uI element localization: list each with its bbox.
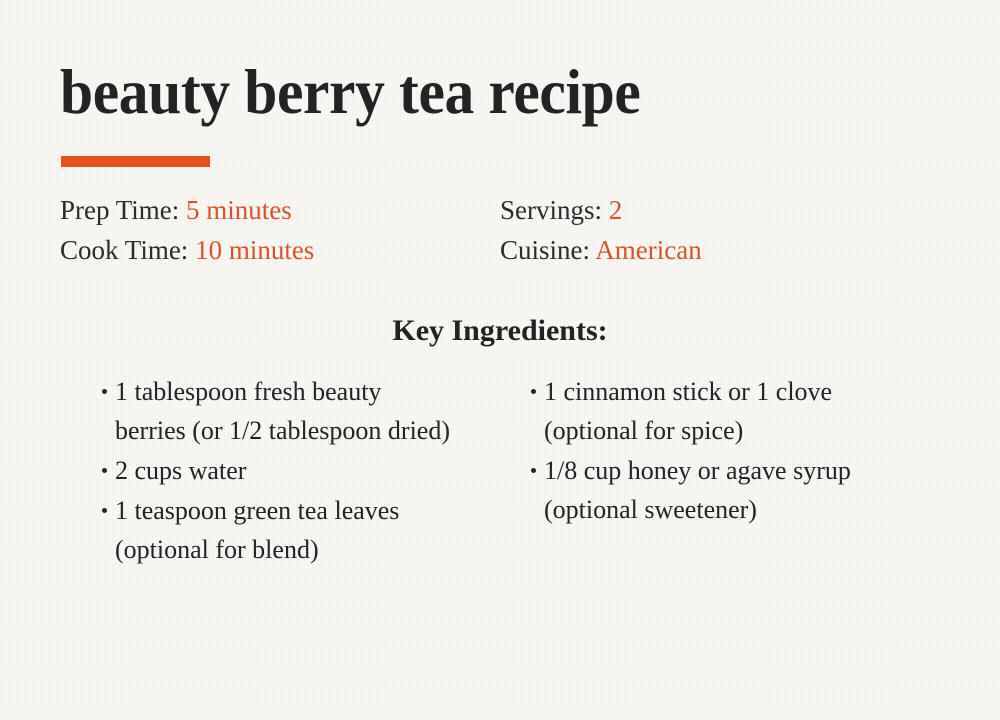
ingredient-text: 2 cups water	[115, 456, 246, 485]
ingredients-heading: Key Ingredients:	[0, 311, 1000, 351]
ingredients-list-right: 1 cinnamon stick or 1 clove (optional fo…	[529, 372, 929, 529]
meta-value-cuisine: American	[595, 235, 701, 265]
meta-value-cook-time: 10 minutes	[195, 235, 314, 265]
list-item: 2 cups water	[100, 451, 450, 490]
ingredients-column-left: 1 tablespoon fresh beauty berries (or 1/…	[100, 372, 450, 570]
meta-row-cook-time: Cook Time: 10 minutes	[60, 230, 314, 270]
meta-row-prep-time: Prep Time: 5 minutes	[60, 190, 314, 230]
ingredients-section: 1 tablespoon fresh beauty berries (or 1/…	[0, 372, 1000, 672]
list-item: 1 cinnamon stick or 1 clove (optional fo…	[529, 372, 929, 450]
meta-label-servings: Servings:	[500, 195, 602, 225]
bullet-icon	[102, 389, 107, 394]
bullet-icon	[531, 468, 536, 473]
bullet-icon	[531, 389, 536, 394]
meta-label-cook-time: Cook Time:	[60, 235, 188, 265]
page-title: beauty berry tea recipe	[60, 56, 878, 128]
ingredient-text: 1 cinnamon stick or 1 clove (optional fo…	[544, 377, 832, 445]
meta-value-prep-time: 5 minutes	[186, 195, 292, 225]
meta-label-cuisine: Cuisine:	[500, 235, 590, 265]
meta-column-left: Prep Time: 5 minutes Cook Time: 10 minut…	[60, 190, 314, 270]
ingredients-column-right: 1 cinnamon stick or 1 clove (optional fo…	[529, 372, 929, 530]
meta-column-right: Servings: 2 Cuisine: American	[500, 190, 702, 270]
list-item: 1 teaspoon green tea leaves (optional fo…	[100, 491, 450, 569]
recipe-card: beauty berry tea recipe Prep Time: 5 min…	[0, 0, 1000, 720]
meta-row-servings: Servings: 2	[500, 190, 702, 230]
bullet-icon	[102, 508, 107, 513]
accent-bar	[61, 156, 210, 167]
ingredient-text: 1 teaspoon green tea leaves (optional fo…	[115, 496, 399, 564]
meta-value-servings: 2	[609, 195, 623, 225]
ingredients-list-left: 1 tablespoon fresh beauty berries (or 1/…	[100, 372, 450, 569]
meta-row-cuisine: Cuisine: American	[500, 230, 702, 270]
ingredient-text: 1 tablespoon fresh beauty berries (or 1/…	[115, 377, 450, 445]
list-item: 1/8 cup honey or agave syrup (optional s…	[529, 451, 929, 529]
ingredient-text: 1/8 cup honey or agave syrup (optional s…	[544, 456, 851, 524]
meta-label-prep-time: Prep Time:	[60, 195, 179, 225]
list-item: 1 tablespoon fresh beauty berries (or 1/…	[100, 372, 450, 450]
bullet-icon	[102, 468, 107, 473]
